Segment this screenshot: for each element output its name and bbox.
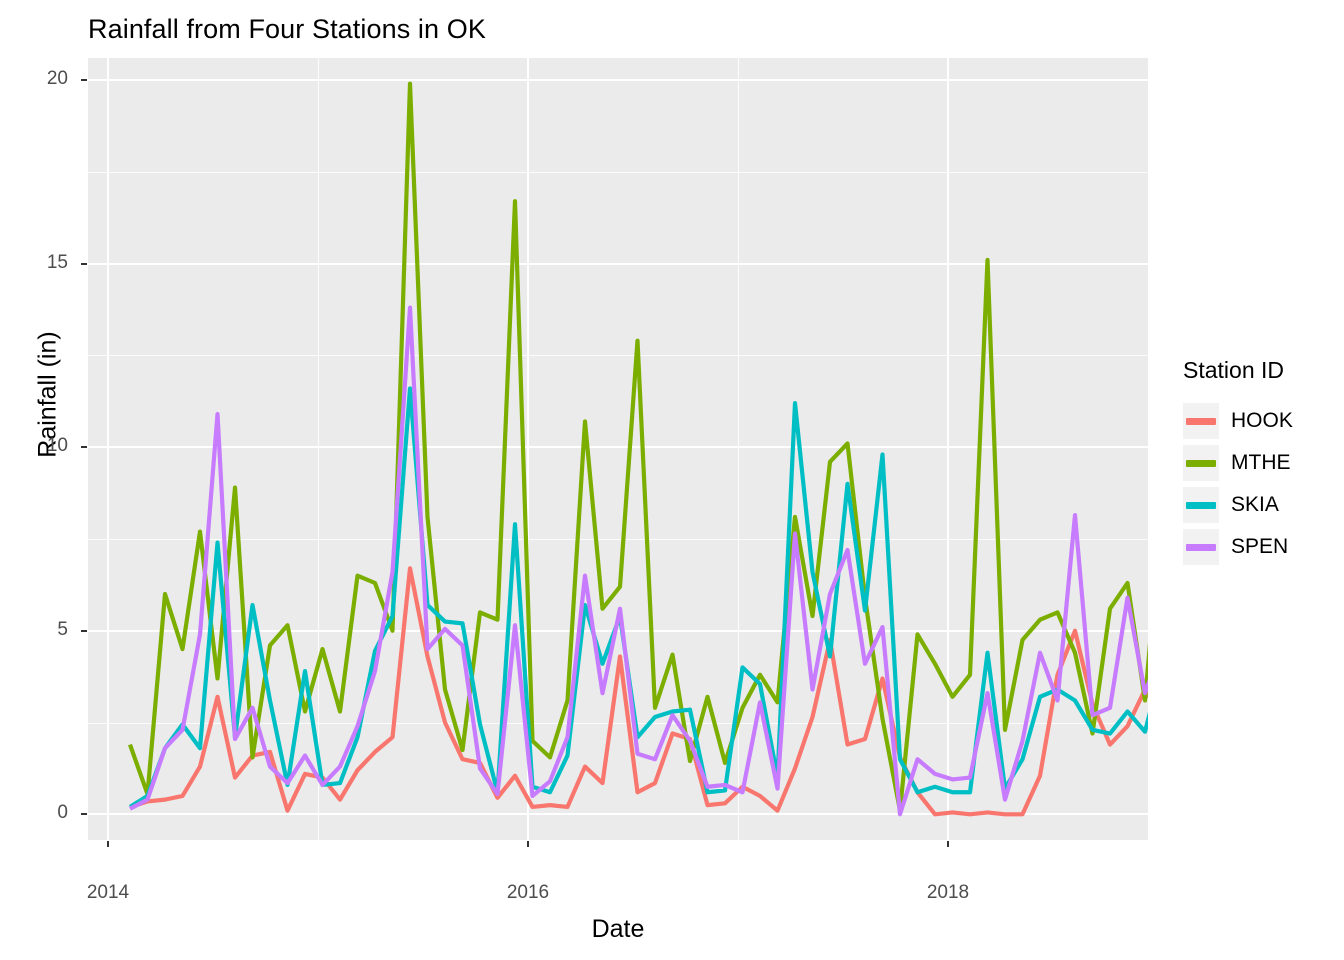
legend-key-icon — [1183, 403, 1219, 439]
legend-item-hook[interactable]: HOOK — [1183, 400, 1293, 442]
y-tick-mark — [81, 79, 87, 81]
chart-root: Rainfall from Four Stations in OK Rainfa… — [0, 0, 1344, 960]
legend-label: HOOK — [1231, 409, 1293, 433]
x-tick-label: 2014 — [58, 882, 158, 904]
y-tick-label: 0 — [20, 802, 68, 824]
legend-color-swatch — [1186, 502, 1216, 509]
plot-lines-svg — [88, 58, 1148, 840]
y-tick-mark — [81, 813, 87, 815]
y-tick-label: 15 — [20, 252, 68, 274]
y-tick-label: 20 — [20, 68, 68, 90]
legend-item-spen[interactable]: SPEN — [1183, 526, 1293, 568]
legend-key-icon — [1183, 529, 1219, 565]
y-tick-mark — [81, 263, 87, 265]
legend-key-icon — [1183, 487, 1219, 523]
page-title: Rainfall from Four Stations in OK — [88, 14, 486, 45]
x-tick-mark — [107, 841, 109, 847]
x-axis-title: Date — [88, 915, 1148, 944]
legend-label: SPEN — [1231, 535, 1288, 559]
y-tick-mark — [81, 446, 87, 448]
legend-items: HOOKMTHESKIASPEN — [1183, 400, 1293, 568]
x-tick-label: 2018 — [898, 882, 998, 904]
y-tick-label: 5 — [20, 619, 68, 641]
legend-color-swatch — [1186, 460, 1216, 467]
x-tick-mark — [947, 841, 949, 847]
legend-label: SKIA — [1231, 493, 1279, 517]
x-tick-label: 2016 — [478, 882, 578, 904]
legend-item-skia[interactable]: SKIA — [1183, 484, 1293, 526]
legend-key-icon — [1183, 445, 1219, 481]
y-axis-title: Rainfall (in) — [34, 285, 63, 505]
legend-color-swatch — [1186, 544, 1216, 551]
legend: Station ID HOOKMTHESKIASPEN — [1183, 357, 1293, 568]
y-tick-mark — [81, 630, 87, 632]
legend-title: Station ID — [1183, 357, 1293, 384]
x-tick-mark — [527, 841, 529, 847]
legend-item-mthe[interactable]: MTHE — [1183, 442, 1293, 484]
legend-color-swatch — [1186, 418, 1216, 425]
plot-panel — [88, 58, 1148, 840]
y-tick-label: 10 — [20, 435, 68, 457]
legend-label: MTHE — [1231, 451, 1291, 475]
